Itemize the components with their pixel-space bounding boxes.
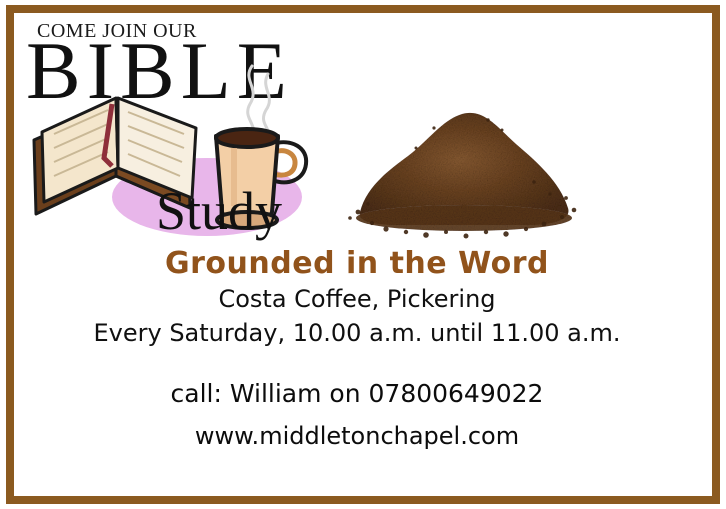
poster-headline: Grounded in the Word [14,246,700,282]
coffee-grounds-photo [338,62,588,247]
venue-line: Costa Coffee, Pickering [14,282,700,316]
schedule-line: Every Saturday, 10.00 a.m. until 11.00 a… [14,316,700,350]
poster-text-block: Grounded in the Word Costa Coffee, Picke… [14,246,700,454]
bible-study-clipart: COME JOIN OUR BIBLE [20,8,350,248]
text-spacer [14,350,700,376]
website-line: www.middletonchapel.com [14,418,700,454]
contact-phone-line: call: William on 07800649022 [14,376,700,412]
poster: COME JOIN OUR BIBLE [0,0,726,509]
study-wordmark: Study [156,184,282,238]
